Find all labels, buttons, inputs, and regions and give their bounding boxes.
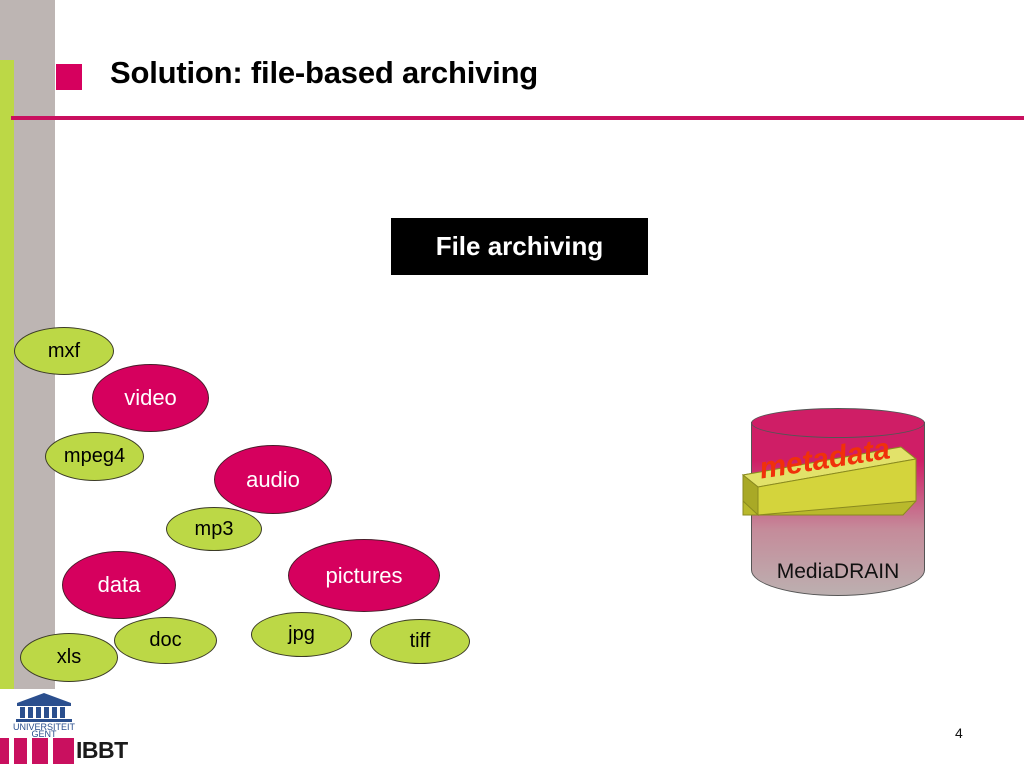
- ibbt-label: IBBT: [76, 737, 128, 764]
- format-bubble-label: video: [124, 385, 177, 411]
- file-archiving-box: File archiving: [391, 218, 648, 275]
- cylinder-top-ellipse: [751, 408, 925, 438]
- format-bubble-label: xls: [57, 646, 81, 669]
- format-bubble-mxf: mxf: [14, 327, 114, 375]
- format-bubble-doc: doc: [114, 617, 217, 664]
- page-number: 4: [955, 725, 963, 741]
- format-bubble-jpg: jpg: [251, 612, 352, 657]
- slide-canvas: Solution: file-based archiving File arch…: [0, 0, 1024, 768]
- metadata-ribbon: metadata: [735, 443, 927, 528]
- format-bubble-tiff: tiff: [370, 619, 470, 664]
- format-bubble-label: data: [98, 572, 141, 598]
- format-bubble-label: tiff: [410, 630, 431, 653]
- cylinder-label: MediaDRAIN: [751, 560, 925, 584]
- ugent-line2: GENT: [31, 729, 57, 737]
- format-bubble-label: audio: [246, 467, 300, 493]
- ibbt-logo: IBBT: [0, 738, 130, 766]
- ibbt-bar-3: [32, 738, 48, 764]
- format-bubble-mp3: mp3: [166, 507, 262, 551]
- title-bullet-square: [56, 64, 82, 90]
- format-bubble-audio: audio: [214, 445, 332, 514]
- page-title: Solution: file-based archiving: [110, 55, 538, 91]
- file-archiving-label: File archiving: [436, 231, 604, 262]
- sidebar-green-bar: [0, 60, 14, 689]
- format-bubble-data: data: [62, 551, 176, 619]
- format-bubble-xls: xls: [20, 633, 118, 682]
- format-bubble-label: mpeg4: [64, 445, 125, 468]
- ibbt-bar-4: [53, 738, 74, 764]
- format-bubble-video: video: [92, 364, 209, 432]
- format-bubble-mpeg4: mpeg4: [45, 432, 144, 481]
- format-bubble-pictures: pictures: [288, 539, 440, 612]
- ugent-logo: UNIVERSITEIT GENT: [5, 692, 83, 737]
- format-bubble-label: jpg: [288, 623, 315, 646]
- format-bubble-label: pictures: [325, 563, 402, 589]
- format-bubble-label: mxf: [48, 340, 80, 363]
- title-divider: [11, 116, 1024, 120]
- format-bubble-label: doc: [149, 629, 181, 652]
- ugent-building-icon: UNIVERSITEIT GENT: [5, 692, 83, 737]
- ibbt-bar-2: [14, 738, 27, 764]
- format-bubble-label: mp3: [195, 518, 234, 541]
- ibbt-bar-1: [0, 738, 9, 764]
